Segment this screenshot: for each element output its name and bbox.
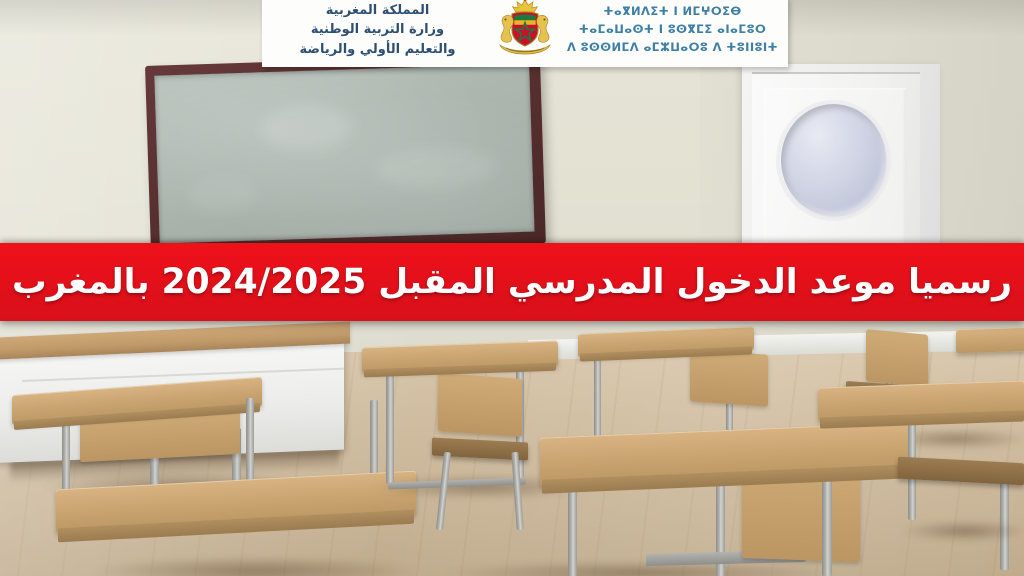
chair-backrest: [438, 373, 522, 437]
tifinagh-line-2: ⵜⴰⵎⴰⵡⴰⵙⵜ ⵏ ⵓⵙⴳⵎⵉ ⴰⵏⴰⵎⵓⵔ: [563, 21, 782, 39]
door-porthole-ring: [776, 100, 891, 221]
tifinagh-line-3: ⴷ ⵓⵙⵙⵍⵎⴷ ⴰⵎⵣⵡⴰⵔⵓ ⴷ ⵜⵓⵏⵏⵓⵏⵜ: [563, 39, 782, 57]
desk-shadow: [900, 520, 1024, 542]
desk-leg: [386, 372, 394, 484]
arabic-line-ministry: وزارة التربية الوطنية: [268, 20, 487, 40]
chair-leg: [1000, 470, 1009, 570]
arabic-ministry-name-block: المملكة المغربية وزارة التربية الوطنية و…: [268, 1, 487, 60]
screenshot-root: ⵜⴰⴳⵍⴷⵉⵜ ⵏ ⵍⵎⵖⵔⵉⴱ ⵜⴰⵎⴰⵡⴰⵙⵜ ⵏ ⵓⵙⴳⵎⵉ ⴰⵏⴰⵎⵓⵔ…: [0, 0, 1024, 576]
desk-leg: [246, 398, 254, 490]
chalkboard-frame: [145, 53, 546, 256]
chair-leg: [822, 478, 832, 576]
headline-banner: رسميا موعد الدخول المدرسي المقبل 2024/20…: [0, 243, 1024, 321]
arabic-line-preschool-sports: والتعليم الأولي والرياضة: [268, 40, 487, 60]
tifinagh-line-1: ⵜⴰⴳⵍⴷⵉⵜ ⵏ ⵍⵎⵖⵔⵉⴱ: [563, 3, 782, 21]
chair-backrest: [690, 349, 768, 406]
chalkboard: [145, 53, 546, 256]
chalkboard-surface: [154, 64, 534, 244]
ministry-letterhead-card: ⵜⴰⴳⵍⴷⵉⵜ ⵏ ⵍⵎⵖⵔⵉⴱ ⵜⴰⵎⴰⵡⴰⵙⵜ ⵏ ⵓⵙⴳⵎⵉ ⴰⵏⴰⵎⵓⵔ…: [262, 0, 788, 67]
desk-leg: [594, 352, 601, 448]
chair-backrest: [866, 329, 928, 386]
moroccan-coat-of-arms-icon: [493, 0, 557, 63]
student-desk-top: [956, 327, 1024, 354]
tifinagh-text-block: ⵜⴰⴳⵍⴷⵉⵜ ⵏ ⵍⵎⵖⵔⵉⴱ ⵜⴰⵎⴰⵡⴰⵙⵜ ⵏ ⵓⵙⴳⵎⵉ ⴰⵏⴰⵎⵓⵔ…: [563, 3, 782, 56]
headline-text: رسميا موعد الدخول المدرسي المقبل 2024/20…: [4, 265, 1020, 300]
arabic-line-kingdom: المملكة المغربية: [268, 1, 487, 21]
